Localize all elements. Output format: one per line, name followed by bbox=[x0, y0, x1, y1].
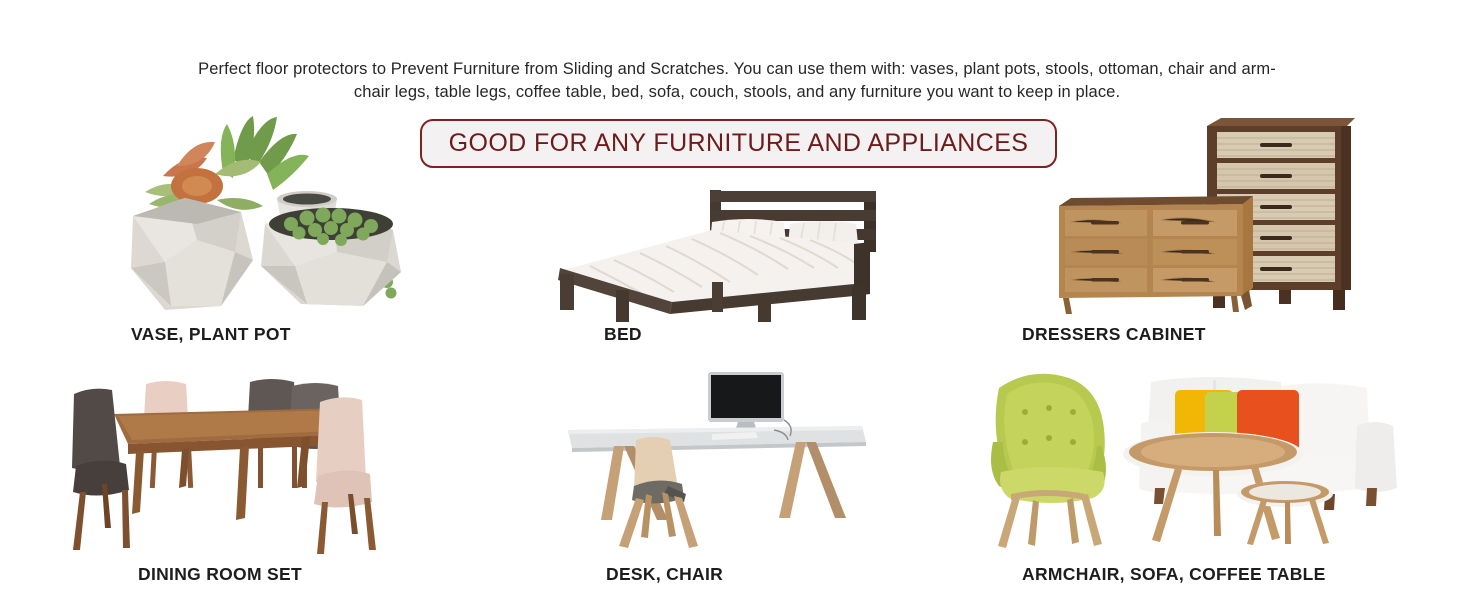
promo-banner-page: Perfect floor protectors to Prevent Furn… bbox=[0, 0, 1464, 600]
good-for-any-furniture-banner: GOOD FOR ANY FURNITURE AND APPLIANCES bbox=[420, 119, 1057, 168]
product-label-vase-plant-pot: VASE, PLANT POT bbox=[131, 324, 291, 345]
product-label-desk-chair: DESK, CHAIR bbox=[606, 564, 723, 585]
armchair-sofa-coffee-table-illustration bbox=[985, 368, 1425, 558]
intro-paragraph: Perfect floor protectors to Prevent Furn… bbox=[182, 58, 1292, 104]
product-label-dressers-cabinet: DRESSERS CABINET bbox=[1022, 324, 1206, 345]
desk-chair-illustration bbox=[562, 368, 892, 558]
vase-plant-pot-illustration bbox=[125, 100, 425, 320]
product-label-armchair-sofa-coffee-table: ARMCHAIR, SOFA, COFFEE TABLE bbox=[1022, 564, 1326, 585]
product-label-bed: BED bbox=[604, 324, 642, 345]
bed-illustration bbox=[552, 182, 892, 322]
banner-text: GOOD FOR ANY FURNITURE AND APPLIANCES bbox=[449, 129, 1029, 158]
dining-room-set-illustration bbox=[62, 372, 422, 562]
product-label-dining-room-set: DINING ROOM SET bbox=[138, 564, 302, 585]
dressers-cabinet-illustration bbox=[1035, 110, 1365, 320]
